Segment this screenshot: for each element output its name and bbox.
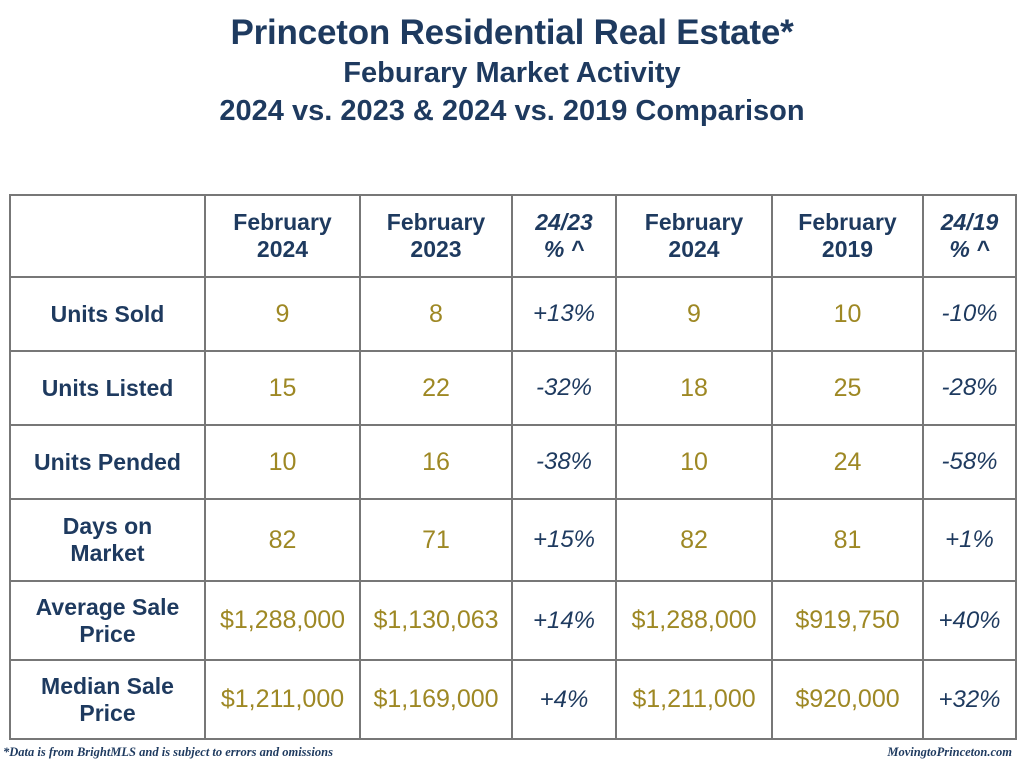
cell-days-on-market-feb2024-a: 82	[205, 499, 360, 581]
cell-days-on-market-feb2024-b: 82	[616, 499, 772, 581]
table-row: Days on Market 82 71 +15% 82 81 +1%	[10, 499, 1016, 581]
cell-average-sale-price-feb2024-a: $1,288,000	[205, 581, 360, 660]
row-label-days-on-market: Days on Market	[10, 499, 205, 581]
column-header-pct-24-23: 24/23 % ^	[512, 195, 616, 277]
cell-units-listed-feb2023: 22	[360, 351, 512, 425]
cell-average-sale-price-feb2023: $1,130,063	[360, 581, 512, 660]
column-header-line-bottom: 2023	[365, 236, 507, 263]
cell-units-sold-feb2019: 10	[772, 277, 923, 351]
cell-units-sold-feb2023: 8	[360, 277, 512, 351]
title-line-primary: Princeton Residential Real Estate*	[0, 12, 1024, 54]
cell-units-sold-feb2024-b: 9	[616, 277, 772, 351]
table-row: Units Pended 10 16 -38% 10 24 -58%	[10, 425, 1016, 499]
column-header-line-top: 24/19	[928, 209, 1011, 236]
row-label-line-1: Median Sale	[15, 673, 200, 700]
column-header-metric	[10, 195, 205, 277]
column-header-line-top: 24/23	[517, 209, 611, 236]
row-label-line-2: Price	[15, 700, 200, 727]
column-header-line-top: February	[777, 209, 918, 236]
cell-days-on-market-pct-24-19: +1%	[923, 499, 1016, 581]
column-header-line-top: February	[210, 209, 355, 236]
column-header-pct-24-19: 24/19 % ^	[923, 195, 1016, 277]
cell-median-sale-price-feb2023: $1,169,000	[360, 660, 512, 739]
row-label-line-1: Average Sale	[15, 594, 200, 621]
cell-units-listed-pct-24-23: -32%	[512, 351, 616, 425]
column-header-line-bottom: 2019	[777, 236, 918, 263]
column-header-feb-2019: February 2019	[772, 195, 923, 277]
cell-units-sold-pct-24-19: -10%	[923, 277, 1016, 351]
row-label-line-1: Units Sold	[15, 301, 200, 328]
column-header-feb-2023: February 2023	[360, 195, 512, 277]
table-row: Average Sale Price $1,288,000 $1,130,063…	[10, 581, 1016, 660]
column-header-feb-2024-b: February 2024	[616, 195, 772, 277]
cell-units-pended-feb2024-a: 10	[205, 425, 360, 499]
column-header-line-bottom: 2024	[621, 236, 767, 263]
cell-units-pended-pct-24-23: -38%	[512, 425, 616, 499]
cell-units-listed-feb2024-a: 15	[205, 351, 360, 425]
market-activity-table: February 2024 February 2023 24/23 % ^ Fe…	[9, 194, 1017, 740]
column-header-line-top: February	[365, 209, 507, 236]
table-header-row: February 2024 February 2023 24/23 % ^ Fe…	[10, 195, 1016, 277]
row-label-units-pended: Units Pended	[10, 425, 205, 499]
column-header-line-bottom: 2024	[210, 236, 355, 263]
row-label-line-1: Units Listed	[15, 375, 200, 402]
title-line-comparison: 2024 vs. 2023 & 2024 vs. 2019 Comparison	[0, 92, 1024, 130]
cell-median-sale-price-pct-24-19: +32%	[923, 660, 1016, 739]
row-label-average-sale-price: Average Sale Price	[10, 581, 205, 660]
row-label-line-2: Market	[15, 540, 200, 567]
column-header-line-bottom: % ^	[517, 236, 611, 263]
cell-median-sale-price-feb2024-a: $1,211,000	[205, 660, 360, 739]
table-row: Median Sale Price $1,211,000 $1,169,000 …	[10, 660, 1016, 739]
cell-days-on-market-pct-24-23: +15%	[512, 499, 616, 581]
table-row: Units Listed 15 22 -32% 18 25 -28%	[10, 351, 1016, 425]
title-line-subtitle: Feburary Market Activity	[0, 54, 1024, 92]
footer-website: MovingtoPrinceton.com	[887, 744, 1024, 760]
cell-units-pended-feb2023: 16	[360, 425, 512, 499]
row-label-line-2: Price	[15, 621, 200, 648]
cell-units-pended-pct-24-19: -58%	[923, 425, 1016, 499]
cell-units-pended-feb2024-b: 10	[616, 425, 772, 499]
footer: *Data is from BrightMLS and is subject t…	[0, 734, 1024, 760]
row-label-units-listed: Units Listed	[10, 351, 205, 425]
page-title: Princeton Residential Real Estate* Febur…	[0, 0, 1024, 130]
row-label-median-sale-price: Median Sale Price	[10, 660, 205, 739]
cell-average-sale-price-pct-24-19: +40%	[923, 581, 1016, 660]
cell-median-sale-price-pct-24-23: +4%	[512, 660, 616, 739]
cell-median-sale-price-feb2019: $920,000	[772, 660, 923, 739]
column-header-line-top: February	[621, 209, 767, 236]
cell-units-listed-feb2019: 25	[772, 351, 923, 425]
cell-units-pended-feb2019: 24	[772, 425, 923, 499]
cell-days-on-market-feb2023: 71	[360, 499, 512, 581]
cell-days-on-market-feb2019: 81	[772, 499, 923, 581]
table-row: Units Sold 9 8 +13% 9 10 -10%	[10, 277, 1016, 351]
cell-units-listed-feb2024-b: 18	[616, 351, 772, 425]
cell-median-sale-price-feb2024-b: $1,211,000	[616, 660, 772, 739]
cell-units-sold-pct-24-23: +13%	[512, 277, 616, 351]
row-label-line-1: Units Pended	[15, 449, 200, 476]
cell-average-sale-price-feb2024-b: $1,288,000	[616, 581, 772, 660]
row-label-units-sold: Units Sold	[10, 277, 205, 351]
cell-units-listed-pct-24-19: -28%	[923, 351, 1016, 425]
cell-average-sale-price-pct-24-23: +14%	[512, 581, 616, 660]
column-header-feb-2024-a: February 2024	[205, 195, 360, 277]
row-label-line-1: Days on	[15, 513, 200, 540]
column-header-line-bottom: % ^	[928, 236, 1011, 263]
market-activity-table-container: February 2024 February 2023 24/23 % ^ Fe…	[9, 194, 1015, 740]
footer-disclaimer: *Data is from BrightMLS and is subject t…	[0, 744, 333, 760]
cell-units-sold-feb2024-a: 9	[205, 277, 360, 351]
cell-average-sale-price-feb2019: $919,750	[772, 581, 923, 660]
